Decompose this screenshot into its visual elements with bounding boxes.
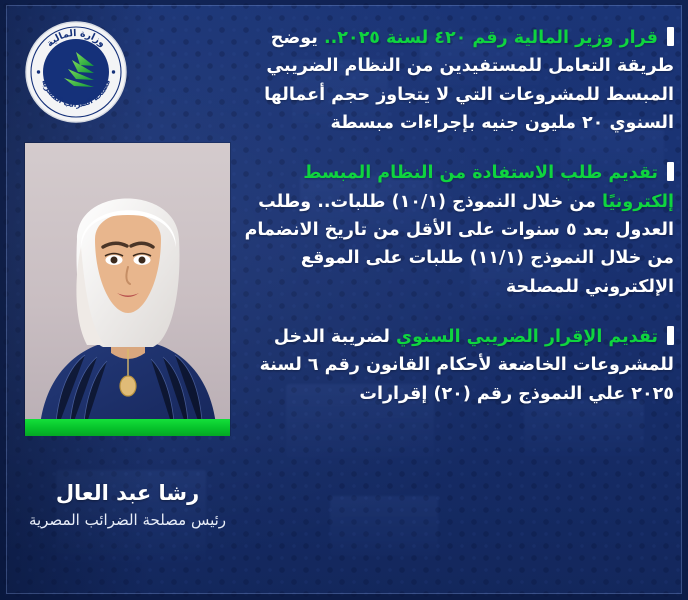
authority-logo: وزارة المالية مصلحة الضرائب المصرية [24, 20, 128, 124]
infographic-poster: وزارة المالية مصلحة الضرائب المصرية [0, 0, 688, 600]
portrait-illustration [25, 143, 230, 435]
block-ministerial-decree: قرار وزير المالية رقم ٤٢٠ لسنة ٢٠٢٥.. يو… [244, 24, 674, 137]
person-name: رشا عبد العال [0, 480, 255, 506]
left-column: وزارة المالية مصلحة الضرائب المصرية [0, 0, 258, 600]
bullet-marker-icon [667, 27, 674, 46]
block-lead: قرار وزير المالية رقم ٤٢٠ لسنة ٢٠٢٥.. [324, 28, 658, 48]
person-title: رئيس مصلحة الضرائب المصرية [0, 509, 255, 532]
person-photo [25, 143, 230, 435]
emblem-icon: وزارة المالية مصلحة الضرائب المصرية [24, 20, 128, 124]
bullet-marker-icon [667, 162, 674, 181]
block-annual-tax-return: تقديم الإقرار الضريبي السنوي لضريبة الدخ… [244, 323, 674, 408]
block-electronic-application: تقديم طلب الاستفادة من النظام المبسط إلك… [244, 159, 674, 301]
content-column: قرار وزير المالية رقم ٤٢٠ لسنة ٢٠٢٥.. يو… [244, 24, 674, 408]
green-accent-bar [25, 419, 230, 436]
block-lead: تقديم الإقرار الضريبي السنوي [396, 327, 658, 347]
bullet-marker-icon [667, 326, 674, 345]
